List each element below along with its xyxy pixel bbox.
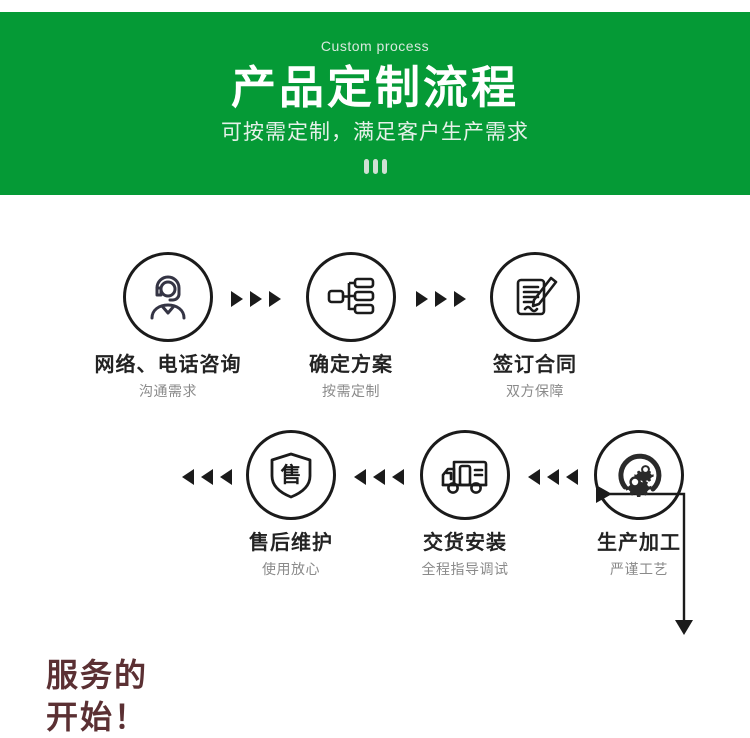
triangle-left-icon — [220, 469, 232, 485]
service-start-callout: 服务的 开始！ — [46, 654, 186, 738]
flow-step-title: 售后维护 — [206, 533, 376, 553]
flow-step-sub: 使用放心 — [206, 562, 376, 576]
flow-step-sub: 双方保障 — [450, 384, 620, 398]
svg-text:售: 售 — [281, 463, 302, 487]
flow-step-plan[interactable]: 确定方案 按需定制 — [266, 252, 436, 398]
triangle-down-icon — [675, 620, 693, 635]
flow-step-title: 网络、电话咨询 — [83, 355, 253, 375]
banner-subtitle: 可按需定制，满足客户生产需求 — [0, 122, 750, 143]
process-flow: 网络、电话咨询 沟通需求 确定方案 按需定制 — [0, 195, 750, 634]
flow-step-sub: 沟通需求 — [83, 384, 253, 398]
triangle-right-icon — [435, 291, 447, 307]
page-title: 产品定制流程 — [0, 63, 750, 113]
flow-step-title: 签订合同 — [450, 355, 620, 375]
org-chart-icon — [306, 252, 396, 342]
header-banner: Custom process 产品定制流程 可按需定制，满足客户生产需求 — [0, 12, 750, 195]
triangle-right-icon — [250, 291, 262, 307]
document-pen-icon — [490, 252, 580, 342]
flow-step-consult[interactable]: 网络、电话咨询 沟通需求 — [83, 252, 253, 398]
flow-step-sub: 严谨工艺 — [554, 562, 724, 576]
triangle-right-icon — [231, 291, 243, 307]
triangle-right-icon — [416, 291, 428, 307]
flow-step-sub: 全程指导调试 — [380, 562, 550, 576]
flow-step-title: 确定方案 — [266, 355, 436, 375]
flow-step-sub: 按需定制 — [266, 384, 436, 398]
flow-step-production[interactable]: 生产加工 严谨工艺 — [554, 430, 724, 576]
service-start-line1: 服务的 — [46, 654, 186, 696]
shield-sale-icon: 售 — [246, 430, 336, 520]
triangle-left-icon — [182, 469, 194, 485]
flow-step-title: 交货安装 — [380, 533, 550, 553]
flow-step-title: 生产加工 — [554, 533, 724, 553]
headset-person-icon — [123, 252, 213, 342]
triangle-left-icon — [392, 469, 404, 485]
gears-icon — [594, 430, 684, 520]
deco-bar — [382, 159, 387, 174]
deco-bar — [364, 159, 369, 174]
service-start-line2: 开始！ — [46, 696, 186, 738]
flow-step-aftersale[interactable]: 售 售后维护 使用放心 — [206, 430, 376, 576]
three-bars-decoration — [0, 159, 750, 174]
flow-step-contract[interactable]: 签订合同 双方保障 — [450, 252, 620, 398]
banner-eyebrow: Custom process — [0, 39, 750, 53]
deco-bar — [373, 159, 378, 174]
flow-arrow-left-3 — [182, 469, 232, 485]
flow-step-delivery[interactable]: 交货安装 全程指导调试 — [380, 430, 550, 576]
triangle-left-icon — [201, 469, 213, 485]
delivery-truck-icon — [420, 430, 510, 520]
triangle-left-icon — [566, 469, 578, 485]
